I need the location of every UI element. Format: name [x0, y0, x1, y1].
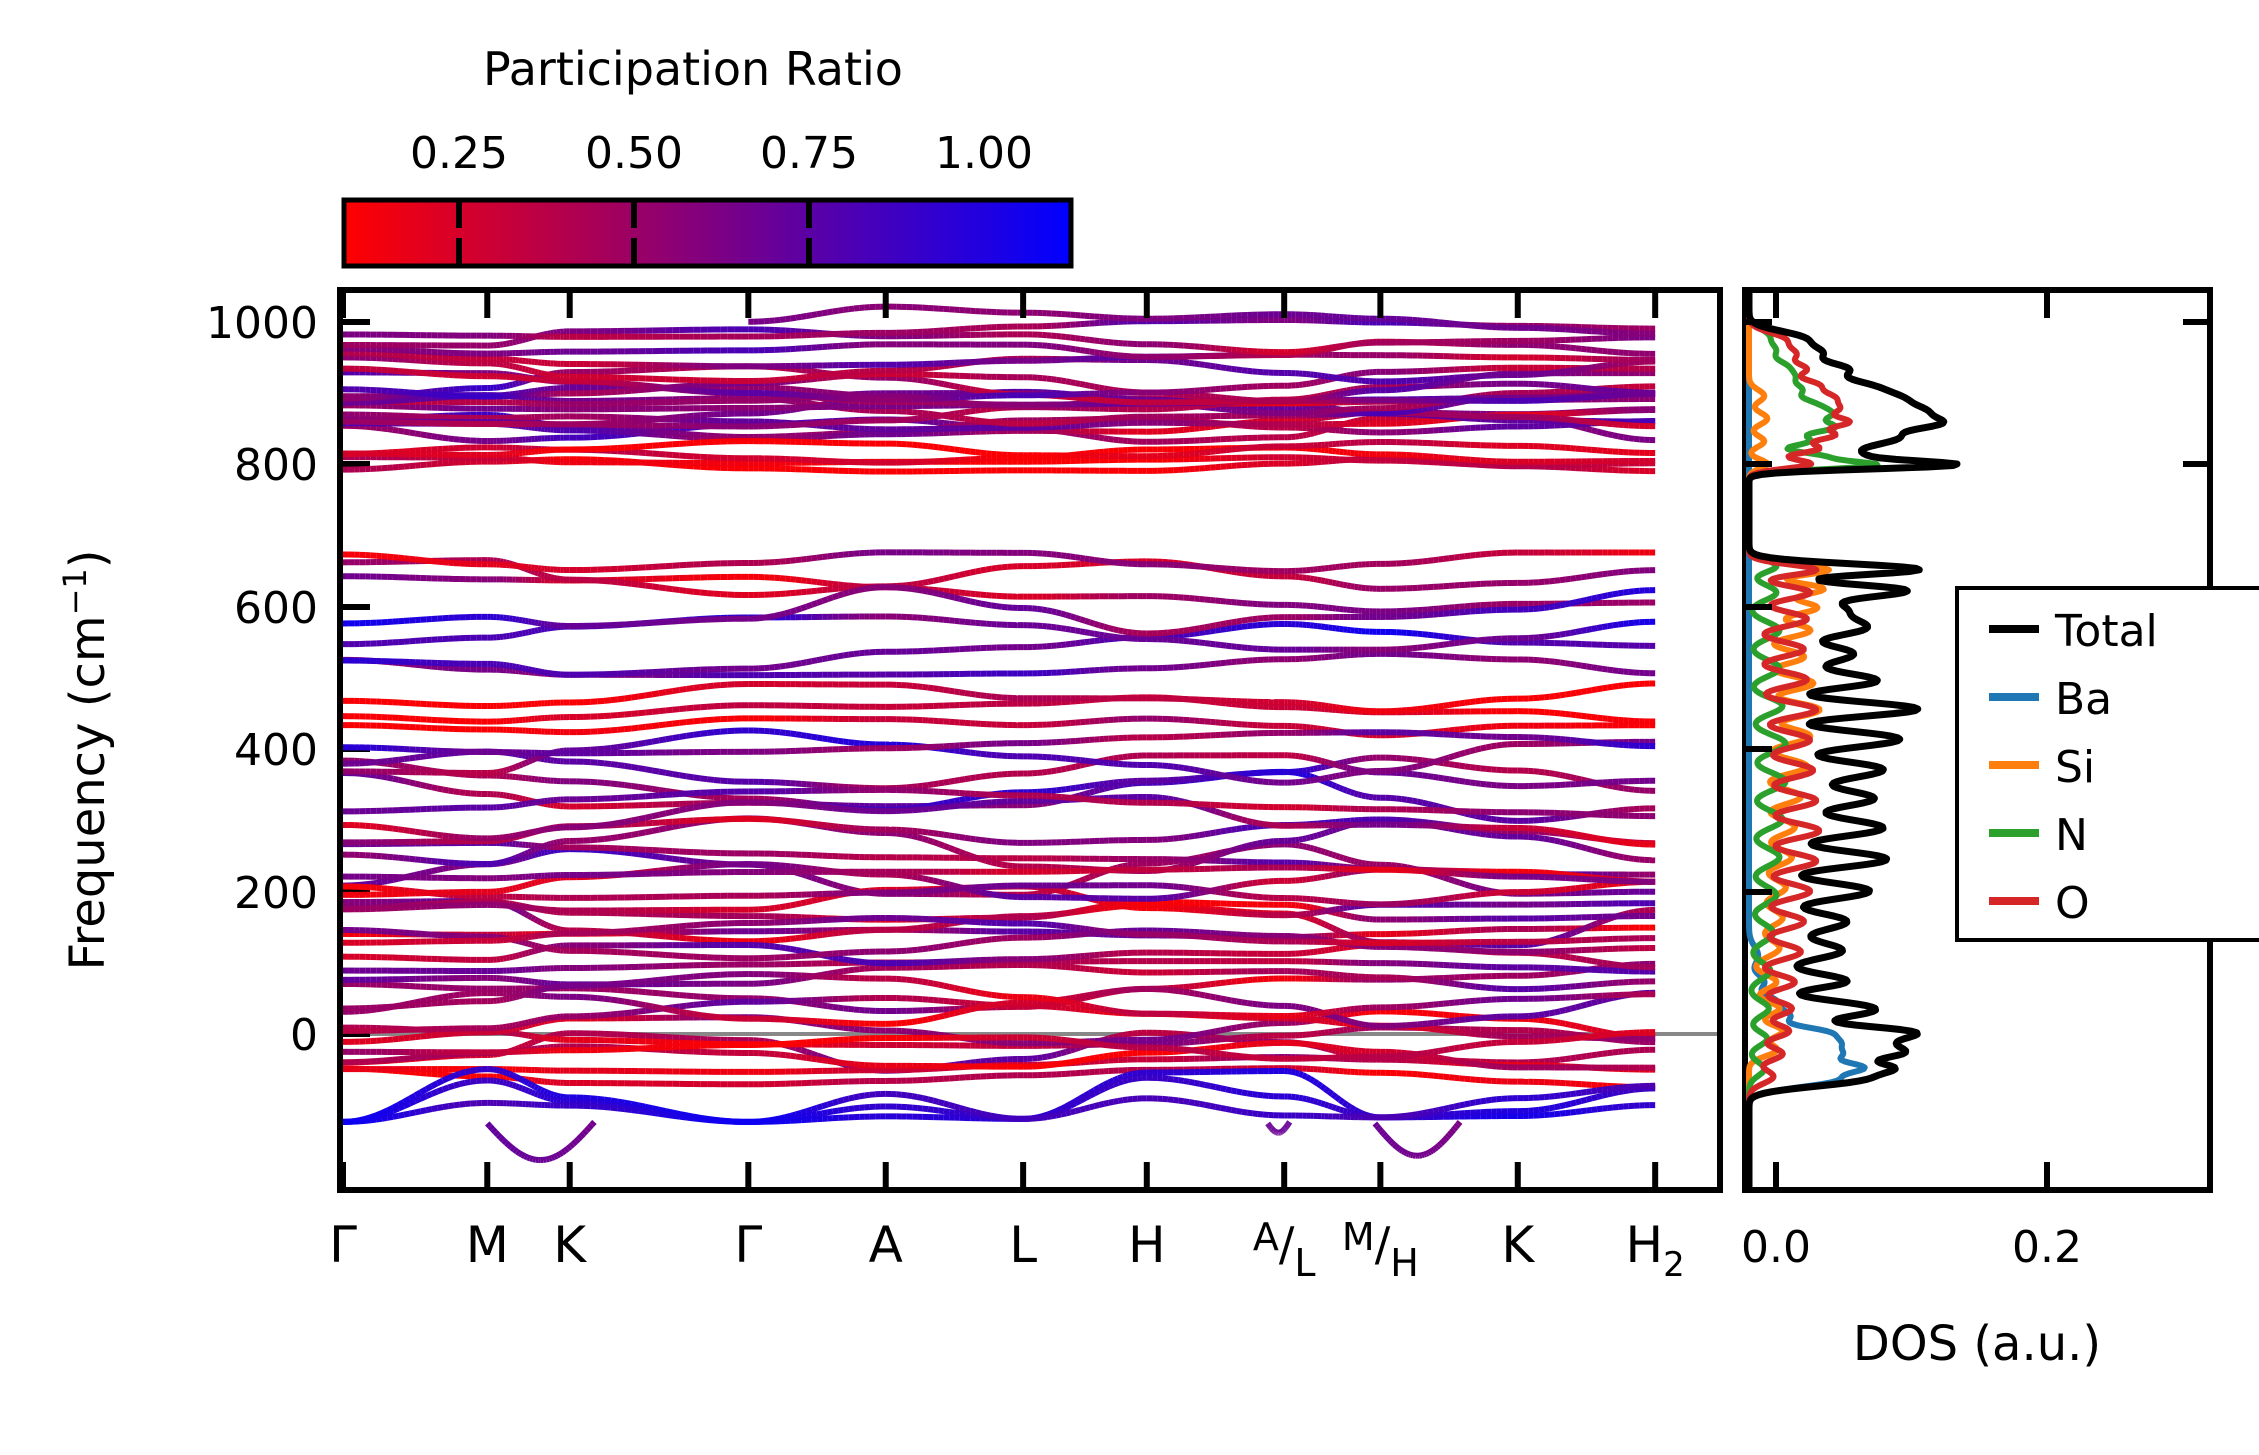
x-tick-label-3: Γ: [734, 1216, 762, 1274]
legend-label-o: O: [2055, 878, 2090, 929]
dos-legend[interactable]: Total Ba Si N O: [1957, 588, 2259, 940]
y-tick-label-600: 600: [234, 583, 318, 634]
legend-label-total: Total: [2054, 606, 2158, 657]
colorbar-gradient[interactable]: [344, 200, 1071, 266]
x-tick-label-6: H: [1128, 1216, 1166, 1274]
band-structure-panel[interactable]: 0 200 400 600 800 1000: [206, 290, 1720, 1190]
figure-canvas: Participation Ratio 0.25 0.50 0.75 1.00 …: [0, 0, 2259, 1455]
dos-x-axis-label: DOS (a.u.): [1853, 1316, 2101, 1372]
x-tick-label-2: K: [553, 1216, 587, 1274]
legend-label-ba: Ba: [2055, 674, 2112, 725]
legend-label-si: Si: [2055, 742, 2095, 793]
y-tick-label-800: 800: [234, 440, 318, 491]
x-tick-label-1: M: [466, 1216, 509, 1274]
colorbar-title: Participation Ratio: [483, 42, 903, 96]
y-tick-label-200: 200: [234, 868, 318, 919]
colorbar-tick-label-0: 0.25: [410, 128, 508, 179]
legend-label-n: N: [2055, 810, 2088, 861]
x-tick-label-9: K: [1501, 1216, 1535, 1274]
x-tick-label-5: L: [1009, 1216, 1037, 1274]
dos-x-tick-label-0: 0.0: [1741, 1222, 1811, 1273]
y-tick-label-0: 0: [290, 1010, 318, 1061]
colorbar-tick-label-1: 0.50: [585, 128, 683, 179]
colorbar-tick-label-3: 1.00: [935, 128, 1033, 179]
colorbar-tick-label-2: 0.75: [760, 128, 858, 179]
phonon-figure: Participation Ratio 0.25 0.50 0.75 1.00 …: [0, 0, 2259, 1455]
y-tick-label-400: 400: [234, 725, 318, 776]
y-tick-label-1000: 1000: [206, 298, 318, 349]
x-tick-label-0: Γ: [329, 1216, 357, 1274]
x-tick-label-4: A: [869, 1216, 903, 1274]
dos-x-tick-label-1: 0.2: [2012, 1222, 2082, 1273]
